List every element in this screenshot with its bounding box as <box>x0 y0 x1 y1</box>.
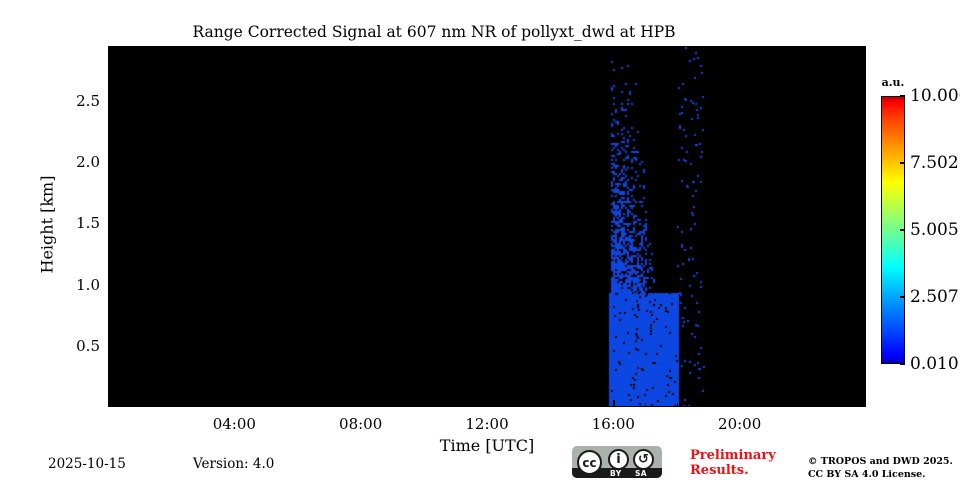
y-minor-tick-right <box>862 260 866 261</box>
page-title: Range Corrected Signal at 607 nm NR of p… <box>0 23 868 41</box>
colorbar-tick-label: 2.507 <box>910 287 959 307</box>
creative-commons-by-sa-icon: cc i ↺ BY SA <box>572 446 662 478</box>
y-tick-label: 0.5 <box>52 337 100 355</box>
y-tick-label: 1.0 <box>52 276 100 294</box>
x-minor-tick <box>708 403 709 407</box>
x-major-tick-top <box>613 46 615 53</box>
y-minor-tick <box>108 52 112 53</box>
y-minor-tick-right <box>862 321 866 322</box>
x-minor-tick <box>677 403 678 407</box>
x-minor-tick-top <box>771 46 772 50</box>
y-minor-tick-right <box>862 309 866 310</box>
x-minor-tick-top <box>803 46 804 50</box>
share-alike-icon: ↺ <box>633 449 654 470</box>
x-minor-tick-top <box>298 46 299 50</box>
y-minor-tick <box>108 321 112 322</box>
x-major-tick <box>361 400 363 407</box>
y-minor-tick-right <box>862 297 866 298</box>
x-minor-tick <box>329 403 330 407</box>
y-major-tick-right <box>859 223 866 225</box>
heatmap-plot-area <box>108 46 866 407</box>
x-minor-tick-top <box>677 46 678 50</box>
y-minor-tick <box>108 272 112 273</box>
y-minor-tick-right <box>862 187 866 188</box>
x-minor-tick-top <box>203 46 204 50</box>
x-minor-tick-top <box>140 46 141 50</box>
y-major-tick <box>108 346 115 348</box>
x-minor-tick <box>203 403 204 407</box>
y-minor-tick-right <box>862 77 866 78</box>
y-minor-tick <box>108 358 112 359</box>
y-minor-tick-right <box>862 52 866 53</box>
y-minor-tick <box>108 211 112 212</box>
x-minor-tick <box>582 403 583 407</box>
y-axis-label: Height [km] <box>38 145 57 305</box>
preliminary-results-notice: Preliminary Results. <box>690 449 795 478</box>
x-minor-tick <box>803 403 804 407</box>
x-minor-tick <box>834 403 835 407</box>
colorbar-unit-label: a.u. <box>881 76 905 89</box>
x-major-tick-top <box>234 46 236 53</box>
y-minor-tick <box>108 174 112 175</box>
x-minor-tick-top <box>519 46 520 50</box>
preliminary-line-1: Preliminary <box>690 449 795 464</box>
x-minor-tick-top <box>834 46 835 50</box>
x-minor-tick <box>392 403 393 407</box>
attribution-person-icon: i <box>608 449 629 470</box>
y-minor-tick-right <box>862 272 866 273</box>
x-major-tick-top <box>361 46 363 53</box>
y-major-tick <box>108 223 115 225</box>
x-major-tick <box>613 400 615 407</box>
colorbar-tick-label: 10.000 <box>910 86 960 106</box>
y-minor-tick <box>108 334 112 335</box>
y-major-tick-right <box>859 101 866 103</box>
x-tick-label: 12:00 <box>465 415 508 433</box>
y-minor-tick-right <box>862 248 866 249</box>
x-tick-label: 16:00 <box>592 415 635 433</box>
x-minor-tick <box>424 403 425 407</box>
y-tick-label: 2.0 <box>52 153 100 171</box>
y-minor-tick <box>108 236 112 237</box>
copyright-line-1: © TROPOS and DWD 2025. <box>808 456 953 469</box>
x-minor-tick <box>171 403 172 407</box>
y-minor-tick <box>108 199 112 200</box>
lidar-signal-heatmap <box>109 47 866 407</box>
x-minor-tick <box>771 403 772 407</box>
footer-date: 2025-10-15 <box>48 456 126 472</box>
y-minor-tick <box>108 309 112 310</box>
x-major-tick <box>740 400 742 407</box>
y-minor-tick <box>108 395 112 396</box>
x-tick-label: 04:00 <box>213 415 256 433</box>
x-minor-tick <box>550 403 551 407</box>
colorbar-tick <box>900 95 905 97</box>
x-minor-tick <box>298 403 299 407</box>
y-minor-tick <box>108 150 112 151</box>
x-minor-tick-top <box>582 46 583 50</box>
y-minor-tick-right <box>862 113 866 114</box>
preliminary-line-2: Results. <box>690 464 795 479</box>
x-minor-tick <box>645 403 646 407</box>
y-tick-label: 2.5 <box>52 92 100 110</box>
y-minor-tick <box>108 138 112 139</box>
x-major-tick-top <box>487 46 489 53</box>
y-minor-tick-right <box>862 199 866 200</box>
copyright-notice: © TROPOS and DWD 2025. CC BY SA 4.0 Lice… <box>808 456 953 482</box>
colorbar-tick <box>900 229 905 231</box>
colorbar-tick <box>900 296 905 298</box>
cc-by-label: BY <box>610 469 622 478</box>
y-minor-tick-right <box>862 150 866 151</box>
footer-version: Version: 4.0 <box>193 456 274 472</box>
colorbar-tick-label: 5.005 <box>910 220 959 240</box>
colorbar-tick <box>900 363 905 365</box>
x-minor-tick <box>519 403 520 407</box>
y-major-tick <box>108 285 115 287</box>
y-tick-label: 1.5 <box>52 214 100 232</box>
y-minor-tick-right <box>862 370 866 371</box>
y-major-tick-right <box>859 162 866 164</box>
y-minor-tick <box>108 187 112 188</box>
y-minor-tick <box>108 248 112 249</box>
y-minor-tick-right <box>862 126 866 127</box>
y-minor-tick-right <box>862 334 866 335</box>
y-minor-tick <box>108 297 112 298</box>
y-major-tick <box>108 101 115 103</box>
colorbar-tick <box>900 162 905 164</box>
y-minor-tick <box>108 113 112 114</box>
x-minor-tick <box>140 403 141 407</box>
x-tick-label: 20:00 <box>718 415 761 433</box>
x-minor-tick <box>266 403 267 407</box>
cc-icon: cc <box>577 450 602 475</box>
x-major-tick <box>234 400 236 407</box>
y-major-tick-right <box>859 346 866 348</box>
x-minor-tick-top <box>455 46 456 50</box>
y-minor-tick-right <box>862 174 866 175</box>
y-minor-tick <box>108 77 112 78</box>
x-minor-tick-top <box>550 46 551 50</box>
y-major-tick-right <box>859 285 866 287</box>
y-minor-tick-right <box>862 358 866 359</box>
y-minor-tick-right <box>862 211 866 212</box>
y-minor-tick <box>108 126 112 127</box>
x-minor-tick-top <box>708 46 709 50</box>
y-major-tick <box>108 162 115 164</box>
x-major-tick-top <box>740 46 742 53</box>
x-minor-tick-top <box>266 46 267 50</box>
y-minor-tick <box>108 64 112 65</box>
colorbar-tick-label: 0.010 <box>910 354 959 374</box>
y-minor-tick-right <box>862 395 866 396</box>
x-major-tick <box>487 400 489 407</box>
x-minor-tick-top <box>171 46 172 50</box>
y-minor-tick <box>108 89 112 90</box>
y-minor-tick-right <box>862 138 866 139</box>
x-minor-tick-top <box>329 46 330 50</box>
cc-sa-label: SA <box>635 469 647 478</box>
y-minor-tick-right <box>862 64 866 65</box>
y-minor-tick-right <box>862 383 866 384</box>
x-minor-tick-top <box>392 46 393 50</box>
y-minor-tick <box>108 383 112 384</box>
x-minor-tick-top <box>424 46 425 50</box>
y-minor-tick <box>108 370 112 371</box>
x-minor-tick-top <box>645 46 646 50</box>
y-minor-tick <box>108 260 112 261</box>
y-minor-tick-right <box>862 89 866 90</box>
x-minor-tick <box>455 403 456 407</box>
colorbar-tick-label: 7.502 <box>910 153 959 173</box>
x-tick-label: 08:00 <box>339 415 382 433</box>
y-minor-tick-right <box>862 236 866 237</box>
